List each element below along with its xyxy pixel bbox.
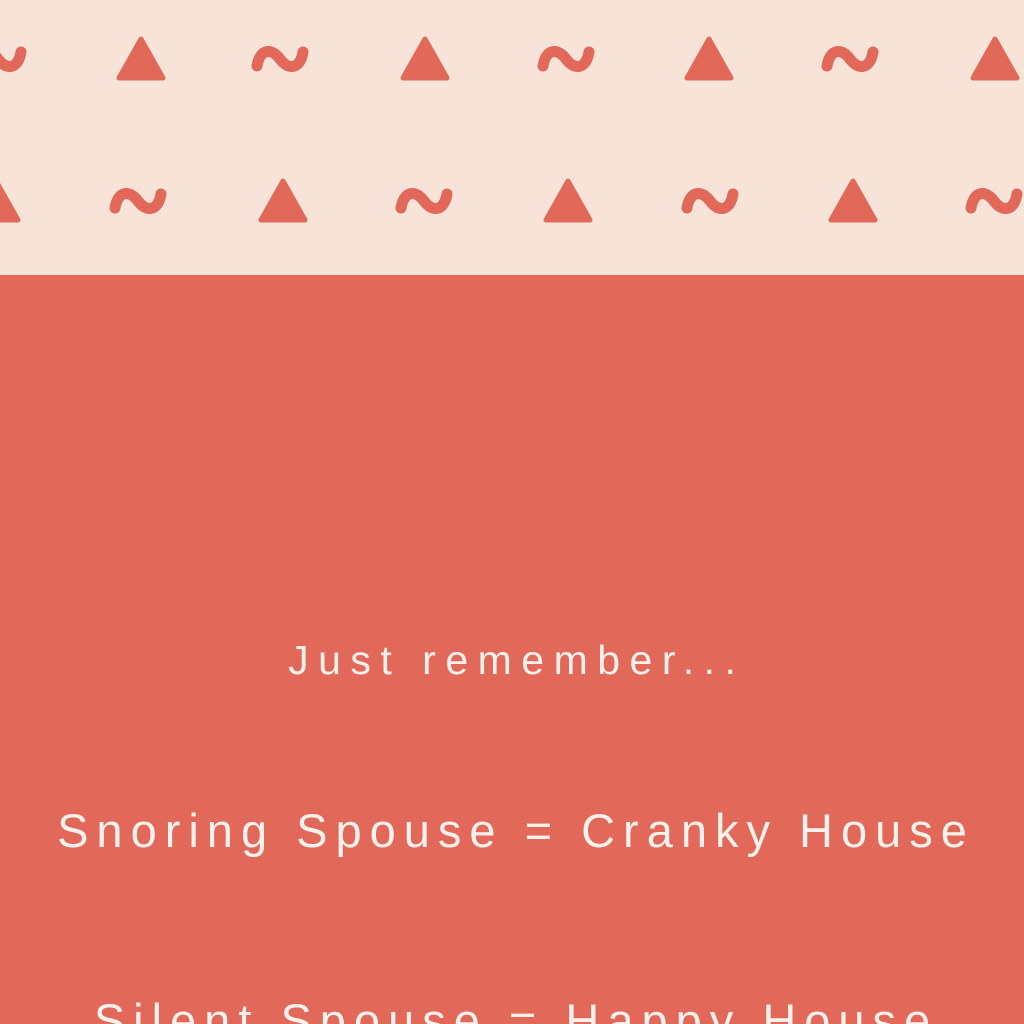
triangle-motif — [681, 36, 737, 82]
triangle-motif — [825, 178, 881, 224]
tilde-motif — [682, 178, 738, 224]
pattern-row-bottom — [0, 178, 1024, 224]
triangle-motif — [967, 36, 1023, 82]
tilde-motif — [252, 36, 308, 82]
statement-cranky-house: Snoring Spouse = Cranky House — [0, 803, 1024, 858]
triangle-motif — [540, 178, 596, 224]
triangle-motif — [397, 36, 453, 82]
tilde-motif — [822, 36, 878, 82]
tilde-motif — [538, 36, 594, 82]
triangle-motif — [0, 178, 24, 224]
pattern-row-top — [0, 36, 1024, 82]
tilde-motif — [396, 178, 452, 224]
tilde-motif — [966, 178, 1022, 224]
tilde-motif — [0, 36, 26, 82]
statement-happy-house: Silent Spouse = Happy House — [0, 993, 1024, 1024]
social-graphic-canvas: Just remember... Snoring Spouse = Cranky… — [0, 0, 1024, 1024]
decorative-pattern-band — [0, 0, 1024, 275]
message-panel: Just remember... Snoring Spouse = Cranky… — [0, 275, 1024, 1024]
tilde-motif — [110, 178, 166, 224]
headline-text: Just remember... — [0, 637, 1024, 684]
triangle-motif — [113, 36, 169, 82]
triangle-motif — [255, 178, 311, 224]
